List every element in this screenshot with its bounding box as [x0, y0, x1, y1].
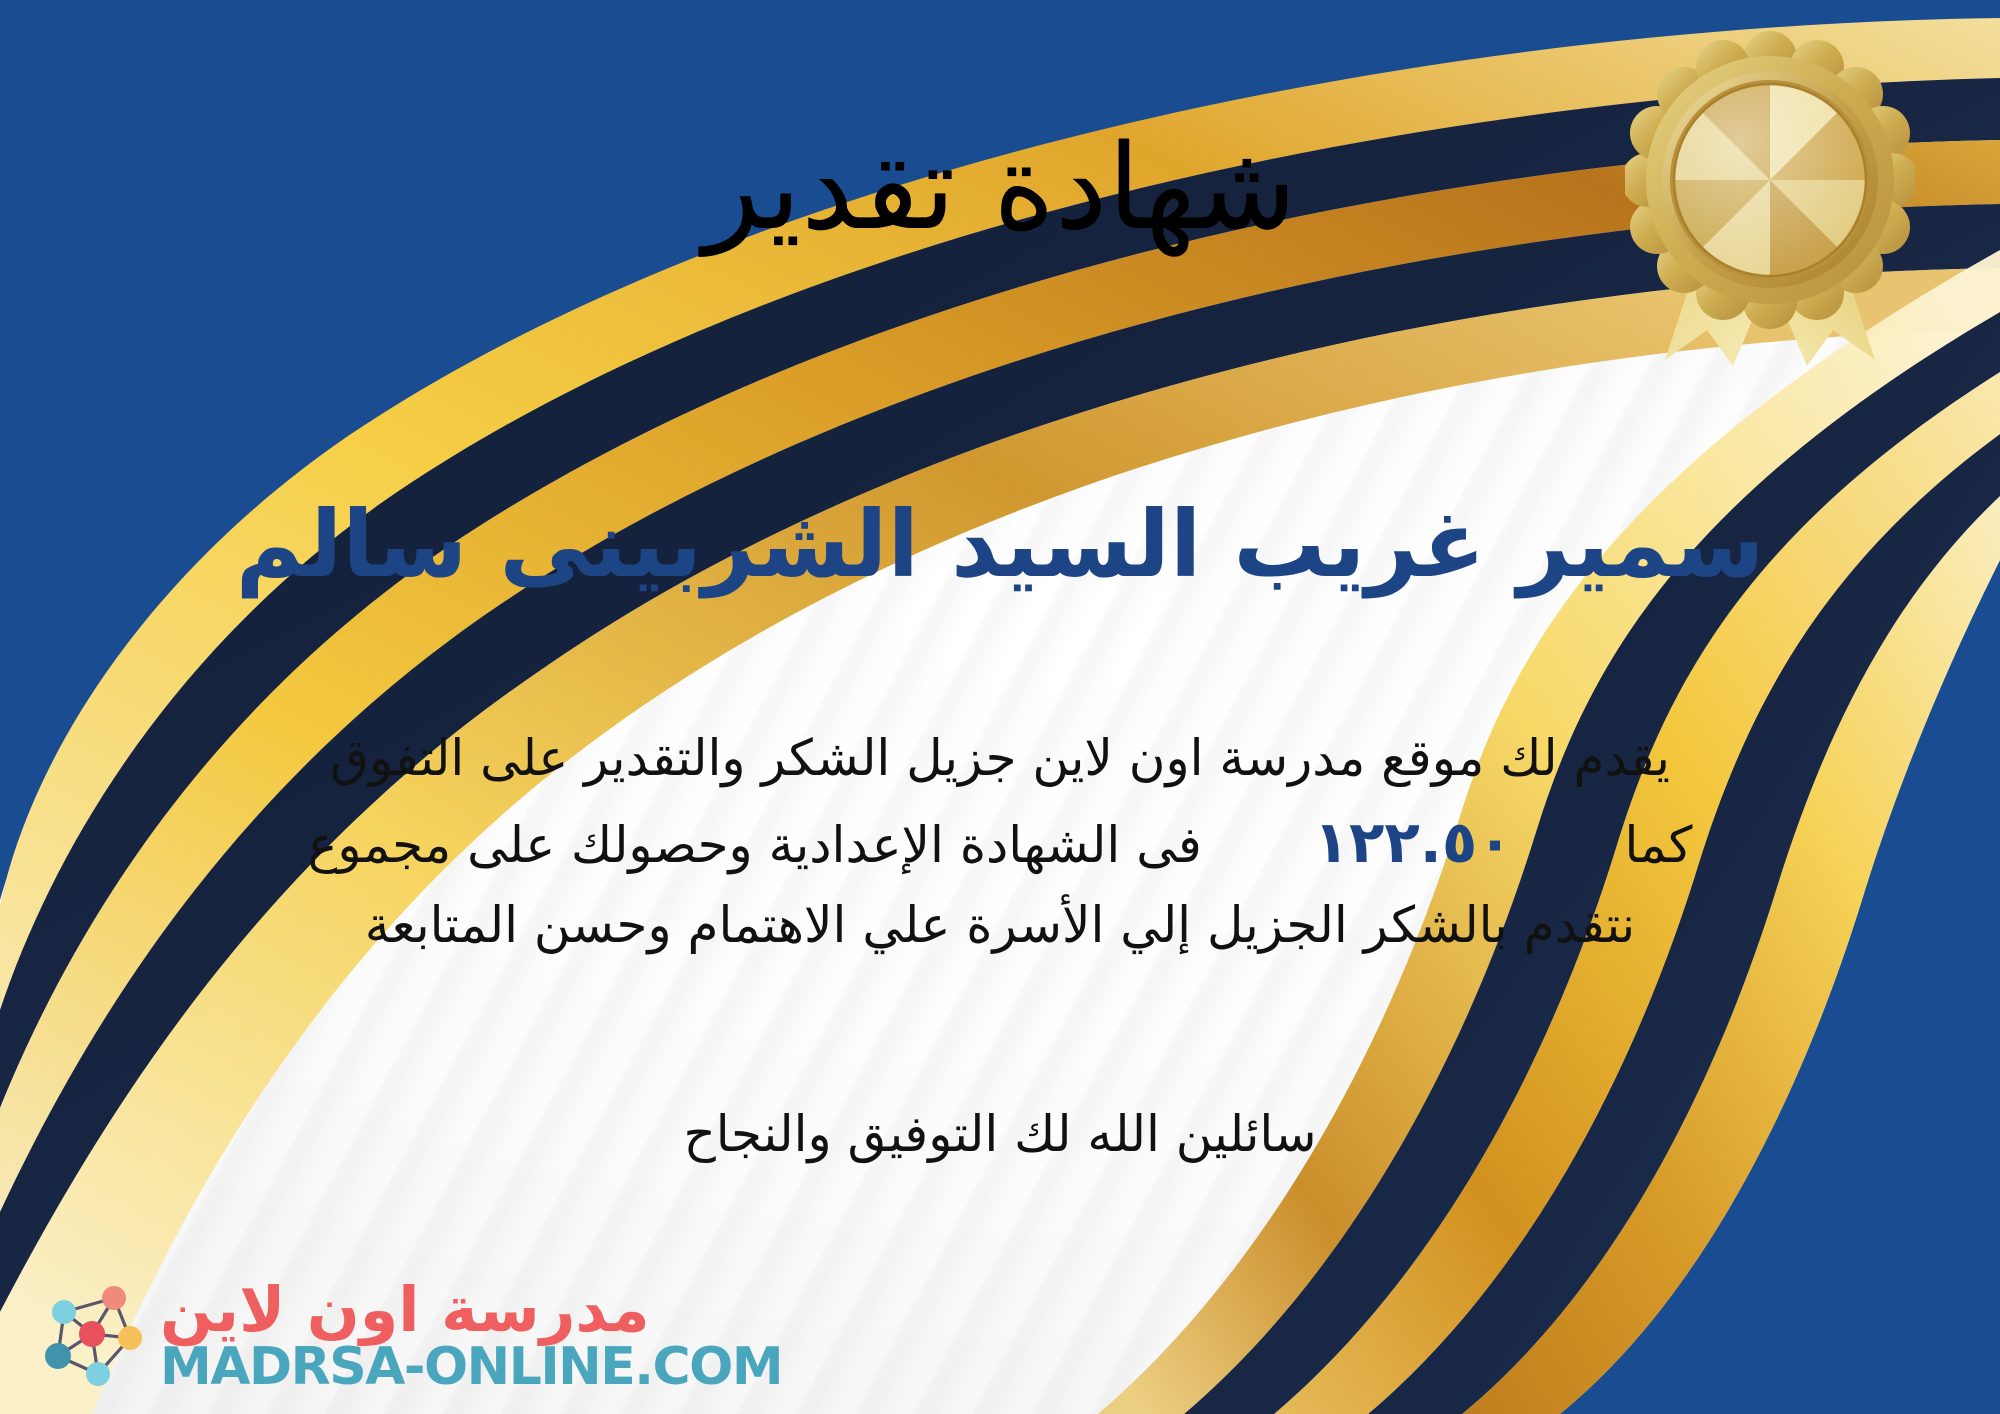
- logo-website-url: MADRSA-ONLINE.COM: [160, 1341, 782, 1394]
- logo-arabic-name: مدرسة اون لاين: [160, 1278, 650, 1341]
- closing-wish-line: سائلين الله لك التوفيق والنجاح: [0, 1105, 2000, 1163]
- site-logo[interactable]: مدرسة اون لاين MADRSA-ONLINE.COM: [30, 1276, 782, 1396]
- recipient-name: سمير غريب السيد الشربينى سالم: [0, 490, 2000, 600]
- body-line-2-suffix: كما: [1624, 816, 1692, 874]
- certificate-body: يقدم لك موقع مدرسة اون لاين جزيل الشكر و…: [70, 720, 1930, 965]
- body-line-1: يقدم لك موقع مدرسة اون لاين جزيل الشكر و…: [70, 720, 1930, 798]
- grade-total-value: ١٢٢.٥٠: [1288, 808, 1539, 876]
- body-line-3: نتقدم بالشكر الجزيل إلي الأسرة علي الاهت…: [70, 887, 1930, 965]
- body-line-2: كما ١٢٢.٥٠ فى الشهادة الإعدادية وحصولك ع…: [70, 798, 1930, 888]
- logo-wordmark: مدرسة اون لاين MADRSA-ONLINE.COM: [160, 1278, 782, 1394]
- gold-award-rosette-icon: [1625, 30, 1915, 374]
- network-nodes-icon: [30, 1276, 150, 1396]
- body-line-2-prefix: فى الشهادة الإعدادية وحصولك على مجموع: [308, 816, 1202, 874]
- certificate-page: شهادة تقدير سمير غريب السيد الشربينى سال…: [0, 0, 2000, 1414]
